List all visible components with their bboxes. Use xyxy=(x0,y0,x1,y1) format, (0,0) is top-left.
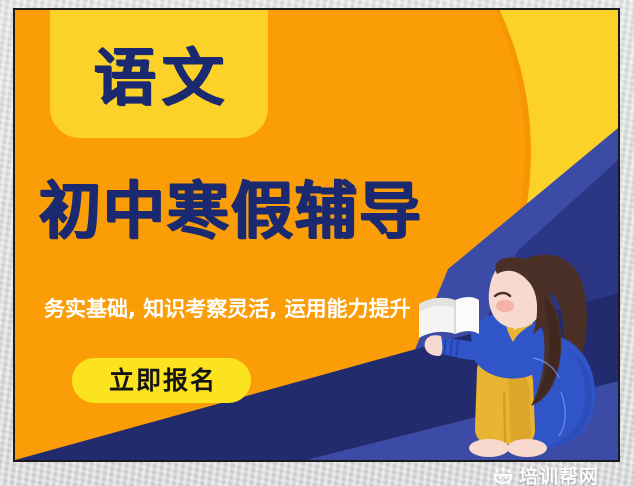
poster-subtitle: 务实基础, 知识考察灵活, 运用能力提升 xyxy=(44,293,411,323)
page-title: 初中寒假辅导 xyxy=(39,180,423,242)
watermark: 培训帮网 xyxy=(492,462,599,486)
enroll-now-button-label: 立即报名 xyxy=(106,368,217,393)
girl-reading-illustration xyxy=(415,242,615,462)
poster-card: 语文 初中寒假辅导 务实基础, 知识考察灵活, 运用能力提升 立即报名 xyxy=(13,8,620,462)
subject-badge-label: 语文 xyxy=(88,39,230,109)
subject-badge: 语文 xyxy=(50,10,268,138)
watermark-label: 培训帮网 xyxy=(519,462,599,486)
page-background: 语文 初中寒假辅导 务实基础, 知识考察灵活, 运用能力提升 立即报名 xyxy=(0,0,634,486)
sun-face-icon xyxy=(492,464,514,486)
enroll-now-button[interactable]: 立即报名 xyxy=(72,358,251,403)
